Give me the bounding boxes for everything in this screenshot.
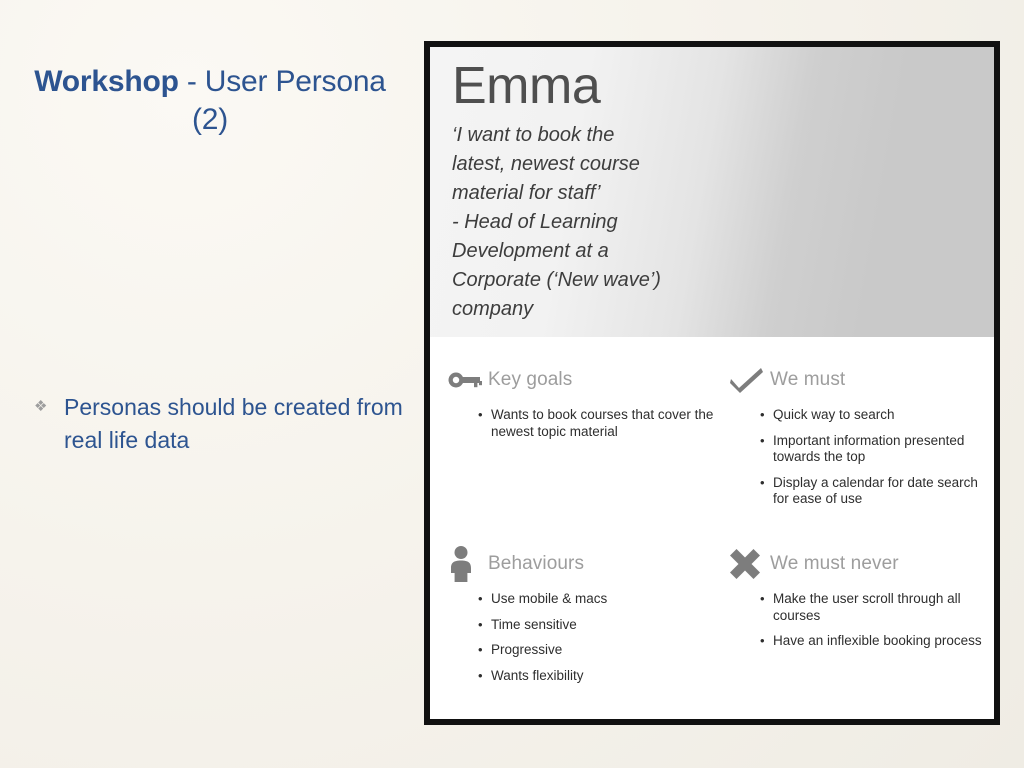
key-icon [444,370,488,390]
list-item: •Wants flexibility [478,668,724,685]
list-item-text: Quick way to search [773,407,895,422]
persona-quote: ‘I want to book the latest, newest cours… [452,121,732,324]
persona-quote-line: Development at a [452,237,732,266]
persona-quote-line: ‘I want to book the [452,121,732,150]
cross-icon [726,549,770,579]
list-bullet-icon: • [760,474,765,491]
persona-quote-line: material for staff’ [452,179,732,208]
panel-we-must-title: We must [770,369,845,391]
panel-we-must-never-list: •Make the user scroll through all course… [726,591,988,650]
page-title: Workshop - User Persona (2) [20,63,400,139]
panel-key-goals-title: Key goals [488,369,572,391]
list-bullet-icon: • [478,616,483,633]
list-item-text: Time sensitive [491,617,577,632]
list-item-text: Progressive [491,642,562,657]
panel-key-goals: Key goals •Wants to book courses that co… [444,363,724,449]
page-title-strong: Workshop [34,65,179,98]
panel-behaviours-list: •Use mobile & macs •Time sensitive •Prog… [444,591,724,684]
persona-quote-line: - Head of Learning [452,208,732,237]
panel-key-goals-header: Key goals [444,363,724,397]
persona-card: Emma ‘I want to book the latest, newest … [424,41,1000,725]
panel-we-must-header: We must [726,363,988,397]
panel-we-must: We must •Quick way to search •Important … [726,363,988,517]
slide-canvas: Workshop - User Persona (2) ❖ Personas s… [0,0,1024,768]
persona-quote-line: Corporate (‘New wave’) [452,266,732,295]
list-item: •Wants to book courses that cover the ne… [478,407,724,440]
slide-left-column: Workshop - User Persona (2) ❖ Personas s… [0,0,418,768]
list-bullet-icon: • [478,590,483,607]
persona-quote-line: latest, newest course [452,150,732,179]
panel-we-must-never-header: We must never [726,547,988,581]
list-item-text: Make the user scroll through all courses [773,591,961,623]
panel-behaviours-title: Behaviours [488,553,584,575]
panel-we-must-list: •Quick way to search •Important informat… [726,407,988,508]
slide-bullet: ❖ Personas should be created from real l… [30,391,420,457]
panel-behaviours: Behaviours •Use mobile & macs •Time sens… [444,547,724,693]
persona-quote-line: company [452,295,732,324]
list-item-text: Have an inflexible booking process [773,633,982,648]
list-bullet-icon: • [478,641,483,658]
list-item: •Use mobile & macs [478,591,724,608]
list-item: •Time sensitive [478,617,724,634]
list-item: •Display a calendar for date search for … [760,475,988,508]
list-item: •Make the user scroll through all course… [760,591,988,624]
slide-bullet-text: Personas should be created from real lif… [64,391,420,457]
list-item: •Have an inflexible booking process [760,633,988,650]
list-bullet-icon: • [478,667,483,684]
list-item-text: Display a calendar for date search for e… [773,475,978,507]
panel-we-must-never-title: We must never [770,553,899,575]
list-item: •Quick way to search [760,407,988,424]
persona-body: Key goals •Wants to book courses that co… [430,337,994,719]
panel-we-must-never: We must never •Make the user scroll thro… [726,547,988,659]
list-bullet-icon: • [760,590,765,607]
panel-behaviours-header: Behaviours [444,547,724,581]
page-title-rest: - User Persona (2) [179,65,386,136]
list-item: •Progressive [478,642,724,659]
list-bullet-icon: • [478,406,483,423]
list-bullet-icon: • [760,406,765,423]
list-bullet-icon: • [760,632,765,649]
list-bullet-icon: • [760,432,765,449]
checkmark-icon [726,367,770,393]
list-item-text: Important information presented towards … [773,433,964,465]
person-icon [444,546,488,582]
persona-header: Emma ‘I want to book the latest, newest … [430,47,994,337]
list-item: •Important information presented towards… [760,433,988,466]
panel-key-goals-list: •Wants to book courses that cover the ne… [444,407,724,440]
list-item-text: Use mobile & macs [491,591,607,606]
list-item-text: Wants flexibility [491,668,584,683]
list-item-text: Wants to book courses that cover the new… [491,407,713,439]
diamond-bullet-icon: ❖ [30,391,64,423]
persona-name: Emma [452,57,994,115]
